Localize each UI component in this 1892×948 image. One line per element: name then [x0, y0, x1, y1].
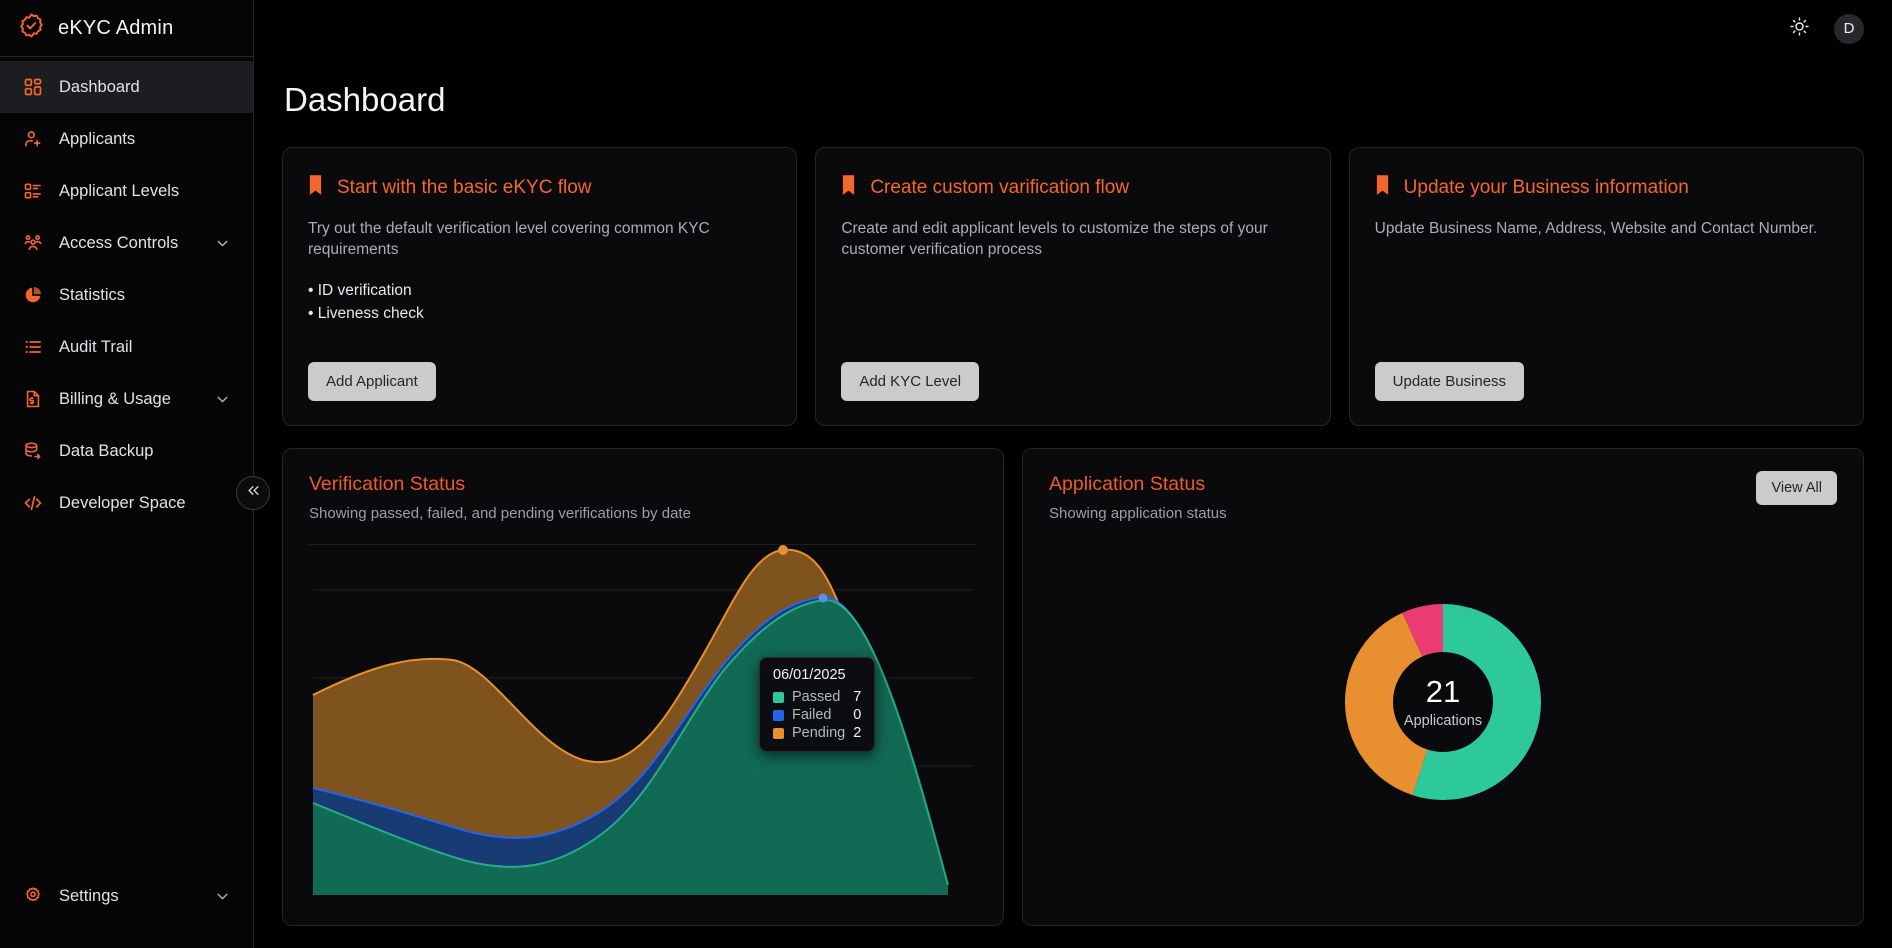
- data-point-pending: [778, 545, 788, 555]
- tooltip-value: 2: [853, 725, 861, 741]
- tooltip-label: Pending: [792, 725, 845, 741]
- sidebar-item-label: Dashboard: [59, 78, 231, 97]
- card-description: Try out the default verification level c…: [308, 218, 771, 260]
- sidebar-item-label: Applicant Levels: [59, 182, 231, 201]
- sidebar-item-billing-usage[interactable]: Billing & Usage: [0, 373, 253, 425]
- verification-area-chart[interactable]: 06/01/2025 Passed 7 Failed 0: [283, 545, 1003, 895]
- double-chevron-left-icon: [246, 483, 261, 503]
- panel-title: Verification Status: [309, 473, 977, 496]
- sidebar-item-dashboard[interactable]: Dashboard: [0, 61, 253, 113]
- bookmark-icon: [308, 175, 323, 201]
- pie-chart-icon: [22, 284, 44, 306]
- sidebar: eKYC Admin Dashboard: [0, 0, 254, 948]
- verified-badge-icon: [18, 12, 45, 44]
- card-description: Create and edit applicant levels to cust…: [841, 218, 1304, 260]
- add-kyc-level-button[interactable]: Add KYC Level: [841, 362, 979, 401]
- area-chart-svg: [283, 545, 1004, 895]
- topbar: D: [254, 0, 1892, 57]
- dashboard-panels: Verification Status Showing passed, fail…: [282, 448, 1864, 926]
- user-plus-icon: [22, 128, 44, 150]
- page-title: Dashboard: [284, 81, 1864, 119]
- sidebar-item-label: Data Backup: [59, 442, 231, 461]
- legend-swatch-passed: [773, 692, 784, 703]
- main-area: D Dashboard Start with the basic eKYC fl…: [254, 0, 1892, 948]
- panel-header: Verification Status Showing passed, fail…: [283, 449, 1003, 522]
- sidebar-item-label: Applicants: [59, 130, 231, 149]
- panel-subtitle: Showing application status: [1049, 505, 1837, 522]
- invoice-dollar-icon: [22, 388, 44, 410]
- gear-icon: [22, 885, 44, 907]
- sidebar-item-data-backup[interactable]: Data Backup: [0, 425, 253, 477]
- tooltip-value: 7: [853, 689, 861, 705]
- sidebar-item-applicants[interactable]: Applicants: [0, 113, 253, 165]
- donut-svg: [1345, 604, 1541, 800]
- sidebar-item-statistics[interactable]: Statistics: [0, 269, 253, 321]
- database-export-icon: [22, 440, 44, 462]
- card-custom-verification-flow: Create custom varification flow Create a…: [815, 147, 1330, 426]
- sidebar-item-access-controls[interactable]: Access Controls: [0, 217, 253, 269]
- sidebar-item-label: Access Controls: [59, 234, 199, 253]
- sidebar-item-applicant-levels[interactable]: Applicant Levels: [0, 165, 253, 217]
- bookmark-icon: [841, 175, 856, 201]
- data-point-failed: [819, 594, 828, 603]
- application-donut-chart[interactable]: 21 Applications: [1023, 522, 1863, 882]
- tooltip-value: 0: [853, 707, 861, 723]
- chevron-down-icon[interactable]: [214, 391, 231, 408]
- info-cards: Start with the basic eKYC flow Try out t…: [282, 147, 1864, 426]
- card-header: Create custom varification flow: [841, 175, 1304, 201]
- tooltip-row-passed: Passed 7: [773, 689, 861, 705]
- card-description: Update Business Name, Address, Website a…: [1375, 218, 1838, 239]
- list-check-icon: [22, 180, 44, 202]
- bookmark-icon: [1375, 175, 1390, 201]
- code-brackets-icon: [22, 492, 44, 514]
- sidebar-item-label: Statistics: [59, 286, 231, 305]
- theme-toggle-button[interactable]: [1786, 16, 1812, 42]
- sidebar-collapse-button[interactable]: [236, 476, 270, 510]
- chart-tooltip: 06/01/2025 Passed 7 Failed 0: [759, 657, 875, 752]
- sidebar-nav: Dashboard Applicants A: [0, 57, 253, 870]
- sidebar-footer: Settings: [0, 870, 253, 948]
- panel-header: Application Status Showing application s…: [1023, 449, 1863, 522]
- chevron-down-icon[interactable]: [214, 888, 231, 905]
- sidebar-item-developer-space[interactable]: Developer Space: [0, 477, 253, 529]
- card-bullets: • ID verification • Liveness check: [308, 280, 771, 325]
- app-root: eKYC Admin Dashboard: [0, 0, 1892, 948]
- grid-dashboard-icon: [22, 76, 44, 98]
- card-update-business-information: Update your Business information Update …: [1349, 147, 1864, 426]
- card-header: Update your Business information: [1375, 175, 1838, 201]
- view-all-button[interactable]: View All: [1756, 471, 1837, 505]
- card-header: Start with the basic eKYC flow: [308, 175, 771, 201]
- application-status-panel: Application Status Showing application s…: [1022, 448, 1864, 926]
- sidebar-item-settings[interactable]: Settings: [0, 870, 253, 922]
- panel-title: Application Status: [1049, 473, 1837, 496]
- sidebar-item-label: Audit Trail: [59, 338, 231, 357]
- sidebar-item-label: Settings: [59, 887, 199, 906]
- card-bullet-item: • ID verification: [308, 280, 771, 302]
- sidebar-item-audit-trail[interactable]: Audit Trail: [0, 321, 253, 373]
- tooltip-label: Failed: [792, 707, 845, 723]
- chevron-down-icon[interactable]: [214, 235, 231, 252]
- legend-swatch-failed: [773, 710, 784, 721]
- card-title: Start with the basic eKYC flow: [337, 177, 592, 199]
- tooltip-label: Passed: [792, 689, 845, 705]
- add-applicant-button[interactable]: Add Applicant: [308, 362, 436, 401]
- tooltip-row-failed: Failed 0: [773, 707, 861, 723]
- card-title: Update your Business information: [1404, 177, 1689, 199]
- users-group-icon: [22, 232, 44, 254]
- bullet-list-icon: [22, 336, 44, 358]
- card-basic-ekyc-flow: Start with the basic eKYC flow Try out t…: [282, 147, 797, 426]
- sidebar-item-label: Billing & Usage: [59, 390, 199, 409]
- sidebar-item-label: Developer Space: [59, 494, 231, 513]
- brand: eKYC Admin: [0, 0, 253, 57]
- verification-status-panel: Verification Status Showing passed, fail…: [282, 448, 1004, 926]
- card-bullet-item: • Liveness check: [308, 303, 771, 325]
- update-business-button[interactable]: Update Business: [1375, 362, 1524, 401]
- brand-title: eKYC Admin: [58, 17, 173, 40]
- tooltip-row-pending: Pending 2: [773, 725, 861, 741]
- tooltip-date: 06/01/2025: [773, 667, 861, 683]
- card-title: Create custom varification flow: [870, 177, 1129, 199]
- sun-icon: [1789, 16, 1810, 42]
- avatar[interactable]: D: [1834, 14, 1864, 44]
- legend-swatch-pending: [773, 728, 784, 739]
- panel-subtitle: Showing passed, failed, and pending veri…: [309, 505, 977, 522]
- page-content: Dashboard Start with the basic eKYC flow…: [254, 81, 1892, 926]
